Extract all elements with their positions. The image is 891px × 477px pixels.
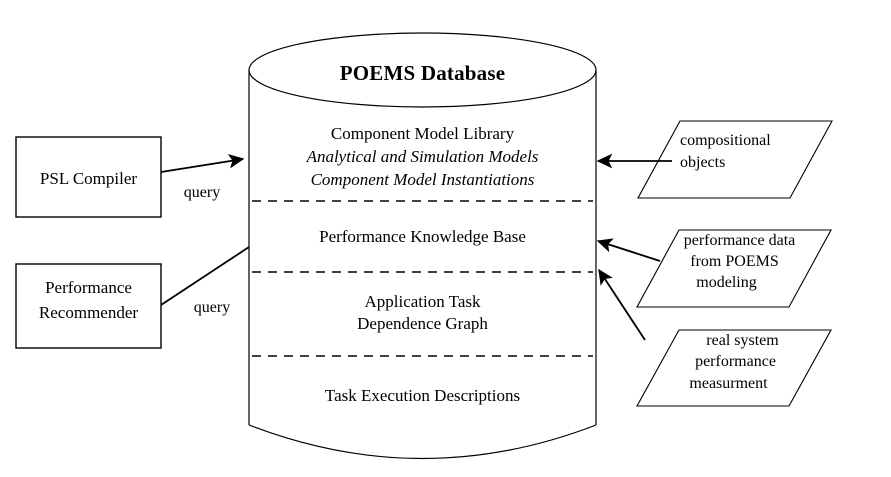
cylinder-bottom-arc (249, 425, 596, 459)
real-system-measurement-line-1: real system (655, 331, 830, 352)
real-system-measurement-line-3: measurment (641, 374, 816, 395)
psl-compiler-query-arrow (161, 159, 243, 172)
section-performance-knowledge-base: Performance Knowledge Base (249, 227, 596, 247)
section-component-model-library-line-1: Component Model Library (249, 124, 596, 144)
performance-recommender-label-line-1: Performance (16, 276, 161, 301)
section-component-model-library-line-3: Component Model Instantiations (249, 170, 596, 190)
section-application-task-line-2: Dependence Graph (249, 314, 596, 334)
compositional-objects-line-1: compositional (680, 131, 840, 152)
section-application-task-line-1: Application Task (249, 292, 596, 312)
compositional-objects-line-2: objects (680, 153, 840, 174)
performance-data-line-2: from POEMS (647, 252, 822, 273)
performance-data-line-3: modeling (639, 273, 814, 294)
section-task-execution-descriptions: Task Execution Descriptions (249, 386, 596, 406)
performance-data-line-1: performance data (652, 231, 827, 252)
diagram-canvas: POEMS Database Component Model Library A… (0, 0, 891, 477)
section-component-model-library-line-2: Analytical and Simulation Models (249, 147, 596, 167)
psl-compiler-label: PSL Compiler (16, 167, 161, 192)
real-system-measurement-line-2: performance (648, 352, 823, 373)
performance-recommender-query-line (161, 247, 249, 305)
recommender-query-label: query (182, 299, 242, 318)
psl-query-label: query (172, 184, 232, 203)
performance-recommender-label-line-2: Recommender (16, 301, 161, 326)
database-title: POEMS Database (249, 61, 596, 86)
